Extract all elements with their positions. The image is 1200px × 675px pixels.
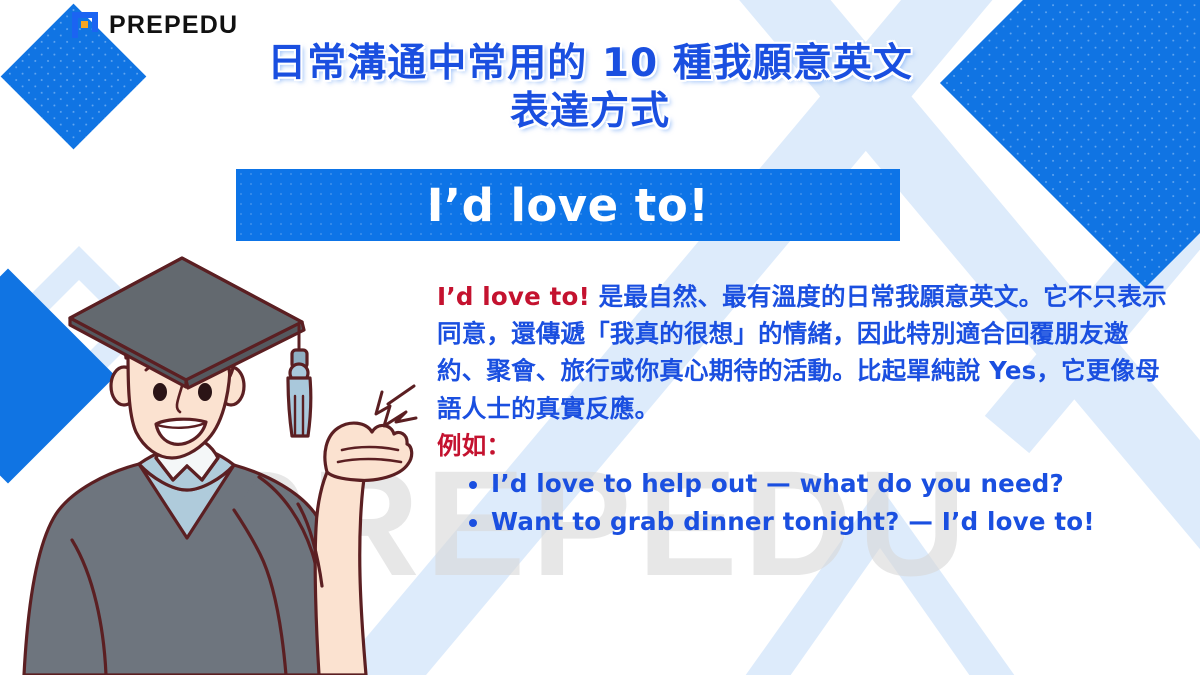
examples-label: 例如： — [437, 427, 1167, 464]
page-title-line1: 日常溝通中常用的 10 種我願意英文 — [175, 40, 1005, 88]
brand-logo-text: PREPEDU — [109, 11, 238, 40]
examples-list: I’d love to help out — what do you need?… — [437, 466, 1167, 539]
phrase-banner-text: I’d love to! — [427, 179, 710, 232]
graduate-student-illustration — [16, 246, 436, 675]
body-lead-phrase: I’d love to! — [437, 282, 590, 311]
list-item: Want to grab dinner tonight? — I’d love … — [491, 504, 1167, 540]
list-item: I’d love to help out — what do you need? — [491, 466, 1167, 502]
page-title-line2: 表達方式 — [175, 88, 1005, 136]
body-copy: I’d love to! 是最自然、最有溫度的日常我願意英文。它不只表示同意，還… — [437, 278, 1167, 541]
prepedu-square-logo-icon — [70, 10, 100, 40]
page-title: 日常溝通中常用的 10 種我願意英文 表達方式 — [175, 40, 1005, 135]
body-paragraph: I’d love to! 是最自然、最有溫度的日常我願意英文。它不只表示同意，還… — [437, 278, 1167, 427]
phrase-banner: I’d love to! — [236, 169, 900, 241]
slide-canvas: PREPEDU PREPEDU 日常溝通中常用的 10 種我願意英文 表達方式 … — [0, 0, 1200, 675]
brand-logo: PREPEDU — [70, 10, 238, 40]
